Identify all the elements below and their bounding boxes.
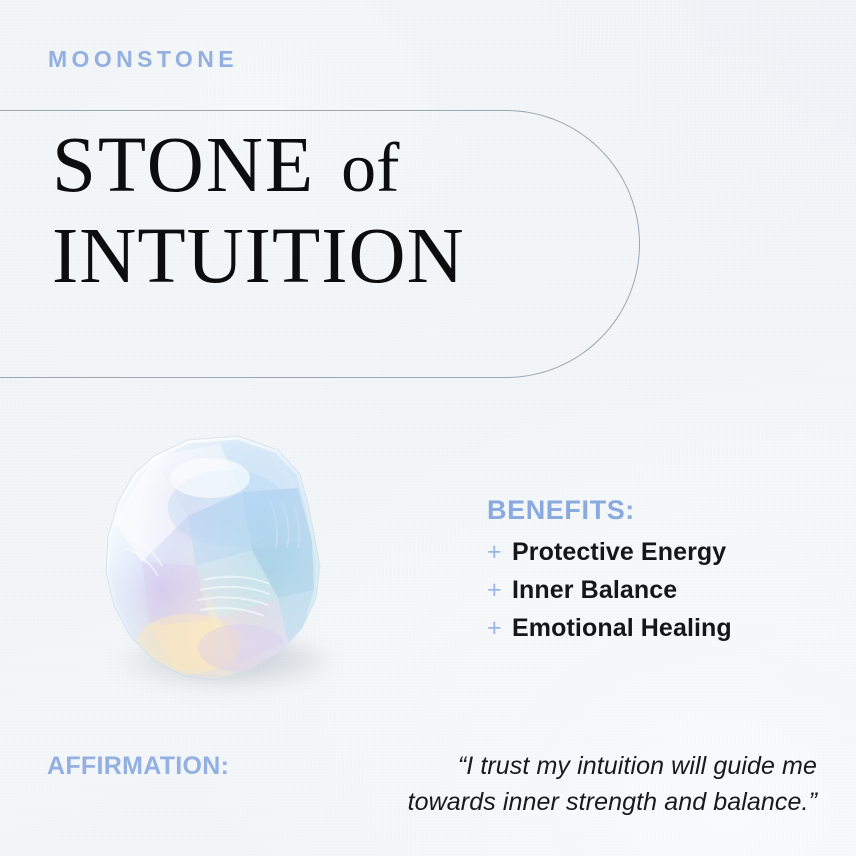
title-word-stone: STONE (52, 122, 315, 209)
benefit-label: Inner Balance (512, 574, 677, 607)
plus-icon: + (487, 578, 512, 603)
benefit-label: Protective Energy (512, 536, 726, 569)
plus-icon: + (487, 616, 512, 641)
moonstone-figure (92, 430, 350, 698)
pill-top-rule (0, 110, 60, 111)
eyebrow-label: MOONSTONE (48, 48, 238, 71)
pill-bottom-rule (0, 377, 60, 378)
benefit-item: + Emotional Healing (487, 612, 817, 645)
page-title: STONEof INTUITION (52, 128, 672, 295)
benefit-item: + Protective Energy (487, 536, 817, 569)
affirmation-quote-line-1: “I trust my intuition will guide me (458, 752, 817, 780)
title-line-1: STONEof (52, 128, 672, 205)
moonstone-crystal-icon (92, 430, 340, 686)
affirmation-label: AFFIRMATION: (47, 748, 229, 784)
benefit-item: + Inner Balance (487, 574, 817, 607)
plus-icon: + (487, 540, 512, 565)
benefits-section: BENEFITS: + Protective Energy + Inner Ba… (487, 495, 817, 645)
moonstone-info-card: MOONSTONE STONEof INTUITION (0, 0, 856, 856)
affirmation-quote-line-2: towards inner strength and balance.” (408, 788, 817, 816)
benefit-label: Emotional Healing (512, 612, 732, 645)
title-line-2: INTUITION (52, 219, 672, 296)
title-word-of: of (341, 130, 399, 207)
affirmation-section: AFFIRMATION: “I trust my intuition will … (47, 748, 817, 820)
benefits-heading: BENEFITS: (487, 495, 817, 526)
